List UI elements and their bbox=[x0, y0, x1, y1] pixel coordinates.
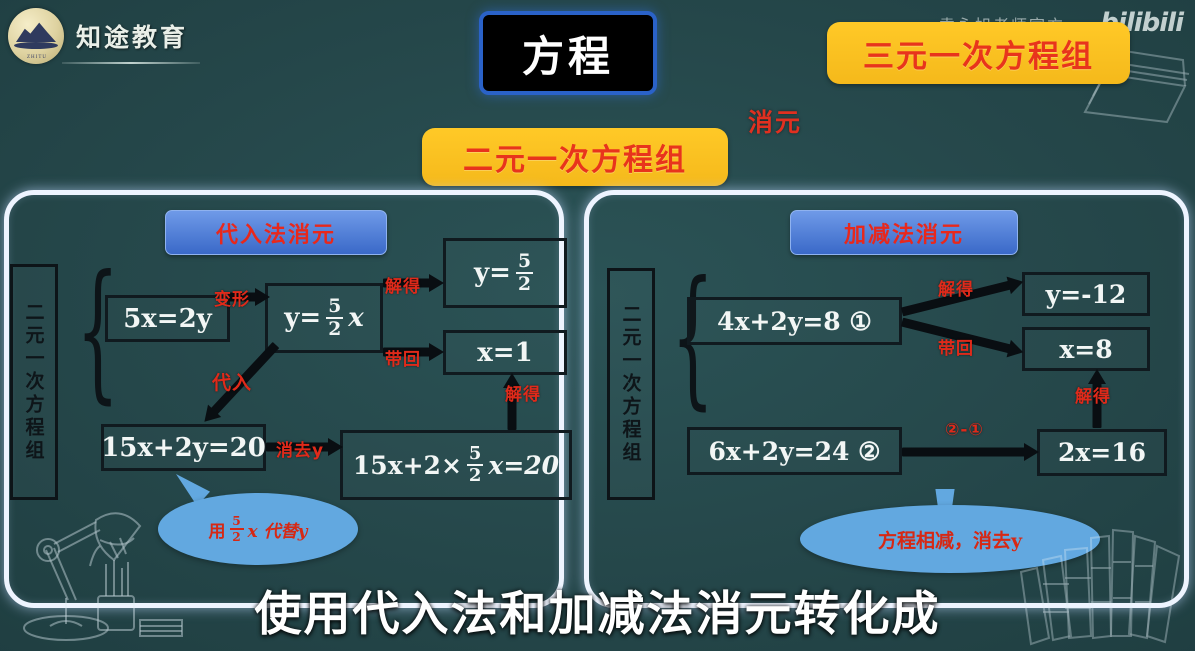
right-equation-4: x=8 bbox=[1022, 327, 1150, 371]
left-eq6-denominator: 2 bbox=[467, 467, 484, 485]
topic-pill-two-variable[interactable]: 二元一次方程组 bbox=[422, 128, 728, 186]
right-equation-5: 2x=16 bbox=[1037, 429, 1167, 476]
brand-logo: ZHITU 知途教育 bbox=[8, 8, 188, 64]
right-hint-bubble-text: 方程相减，消去y bbox=[878, 526, 1022, 553]
left-eq2-numerator: 5 bbox=[326, 297, 343, 316]
left-eq2-denominator: 2 bbox=[326, 320, 343, 339]
left-equation-1-text: 5x=2y bbox=[123, 304, 212, 334]
right-label-jiede-bottom: 解得 bbox=[1075, 382, 1111, 407]
left-eq6-fraction: 5 2 bbox=[467, 445, 484, 485]
logo-underline bbox=[62, 62, 200, 64]
left-eq6-suffix: x=20 bbox=[488, 451, 559, 480]
right-label-jiede-top: 解得 bbox=[938, 275, 974, 300]
topic-pill-three-variable-label: 三元一次方程组 bbox=[863, 31, 1094, 76]
left-eq3-numerator: 5 bbox=[516, 252, 533, 271]
left-equation-4: x=1 bbox=[443, 330, 567, 375]
logo-emblem-icon: ZHITU bbox=[8, 8, 64, 64]
left-label-xiaoquy: 消去y bbox=[276, 436, 324, 461]
left-bubble-fraction: 5 2 bbox=[230, 515, 244, 543]
left-system-label-text: 二元一次方程组 bbox=[21, 302, 48, 463]
right-equation-1: 4x+2y=8 ① bbox=[687, 297, 902, 345]
left-label-dairu: 代入 bbox=[212, 368, 252, 395]
left-bubble-prefix: 用 bbox=[209, 517, 226, 542]
left-equation-3: y= 5 2 bbox=[443, 238, 567, 308]
right-label-daihui: 带回 bbox=[938, 334, 974, 359]
elimination-label: 消元 bbox=[748, 103, 802, 139]
left-equation-5-text: 15x+2y=20 bbox=[101, 433, 266, 463]
left-label-jiede-top: 解得 bbox=[385, 272, 421, 297]
topic-pill-three-variable[interactable]: 三元一次方程组 bbox=[827, 22, 1130, 84]
left-eq2-fraction: 5 2 bbox=[326, 297, 343, 338]
left-equation-2-text: y= 5 2 x bbox=[284, 297, 363, 338]
right-equation-3-text: y=-12 bbox=[1046, 280, 1127, 309]
right-label-subtract: ②-① bbox=[945, 420, 984, 440]
right-equation-1-text: 4x+2y=8 ① bbox=[717, 307, 872, 336]
left-label-daihui: 带回 bbox=[385, 345, 421, 370]
left-eq6-numerator: 5 bbox=[467, 445, 484, 463]
blackboard-background: ZHITU 知途教育 袁永旭老师官方 bilibili 方程 三元一次方程组 二… bbox=[0, 0, 1195, 651]
left-eq3-fraction: 5 2 bbox=[516, 252, 533, 293]
left-label-jiede-bottom: 解得 bbox=[505, 380, 541, 405]
video-subtitle: 使用代入法和加减法消元转化成 bbox=[0, 575, 1195, 644]
topic-pill-two-variable-label: 二元一次方程组 bbox=[463, 135, 687, 179]
left-label-bianxing: 变形 bbox=[214, 285, 250, 310]
left-hint-bubble: 用 5 2 x 代替y bbox=[158, 493, 358, 565]
logo-text: 知途教育 bbox=[76, 18, 188, 54]
left-eq2-prefix: y= bbox=[284, 303, 321, 333]
left-bubble-numerator: 5 bbox=[230, 515, 243, 527]
left-hint-bubble-text: 用 5 2 x 代替y bbox=[209, 515, 308, 543]
left-bubble-suffix: x 代替y bbox=[248, 517, 308, 542]
left-equation-1: 5x=2y bbox=[105, 295, 230, 342]
left-eq6-prefix: 15x+2× bbox=[353, 451, 462, 480]
right-equation-3: y=-12 bbox=[1022, 272, 1150, 316]
tab-substitution-method-label: 代入法消元 bbox=[216, 217, 336, 249]
left-equation-6: 15x+2× 5 2 x=20 bbox=[340, 430, 572, 500]
left-equation-5: 15x+2y=20 bbox=[101, 424, 266, 471]
right-system-label: 二元一次方程组 bbox=[607, 268, 655, 500]
right-system-label-text: 二元一次方程组 bbox=[618, 304, 645, 465]
left-eq3-denominator: 2 bbox=[516, 275, 533, 294]
page-title-text: 方程 bbox=[522, 23, 614, 84]
left-bubble-denominator: 2 bbox=[230, 531, 243, 543]
tab-elimination-method[interactable]: 加减法消元 bbox=[790, 210, 1018, 255]
logo-emblem-subtext: ZHITU bbox=[20, 55, 54, 61]
right-equation-5-text: 2x=16 bbox=[1058, 438, 1146, 467]
left-equation-2: y= 5 2 x bbox=[265, 283, 383, 353]
page-title: 方程 bbox=[479, 11, 657, 95]
tab-elimination-method-label: 加减法消元 bbox=[844, 217, 964, 249]
right-equation-2-text: 6x+2y=24 ② bbox=[708, 437, 880, 466]
left-equation-6-text: 15x+2× 5 2 x=20 bbox=[353, 445, 559, 485]
left-eq3-prefix: y= bbox=[474, 258, 511, 288]
right-equation-4-text: x=8 bbox=[1059, 335, 1112, 364]
right-equation-2: 6x+2y=24 ② bbox=[687, 427, 902, 475]
left-equation-3-text: y= 5 2 bbox=[474, 252, 536, 293]
left-system-label: 二元一次方程组 bbox=[10, 264, 58, 500]
left-eq2-suffix: x bbox=[348, 303, 364, 333]
left-equation-4-text: x=1 bbox=[477, 338, 532, 368]
tab-substitution-method[interactable]: 代入法消元 bbox=[165, 210, 387, 255]
